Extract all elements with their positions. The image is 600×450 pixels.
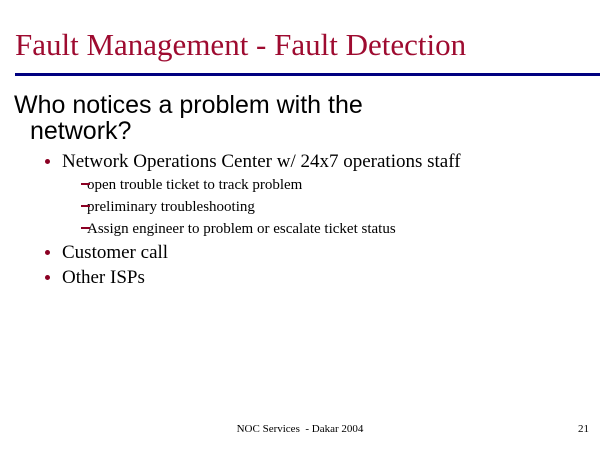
bullet-label: Network Operations Center w/ 24x7 operat… <box>62 151 461 172</box>
slide-canvas: Fault Management - Fault Detection Who n… <box>0 0 600 450</box>
bullet-dot-icon <box>45 275 50 280</box>
sub-bullet-label: Assign engineer to problem or escalate t… <box>87 221 396 237</box>
list-item: Customer call <box>0 241 600 265</box>
sub-bullet-label: open trouble ticket to track problem <box>87 177 302 193</box>
bullet-dash-icon <box>81 205 90 207</box>
page-title: Fault Management - Fault Detection <box>15 26 590 64</box>
slide-footer: NOC Services - Dakar 2004 21 <box>0 422 600 438</box>
list-item: Other ISPs <box>0 266 600 290</box>
slide-body: Who notices a problem with the network? … <box>0 92 600 291</box>
title-divider <box>15 73 600 76</box>
list-item: open trouble ticket to track problem <box>62 175 600 195</box>
bullet-label: Customer call <box>62 242 168 263</box>
bullet-dash-icon <box>81 227 90 229</box>
lead-heading: Who notices a problem with the network? <box>0 92 600 144</box>
bullet-dot-icon <box>45 250 50 255</box>
lead-heading-line-2: network? <box>14 118 560 144</box>
lead-heading-line-1: Who notices a problem with the <box>14 91 363 119</box>
list-item: Network Operations Center w/ 24x7 operat… <box>0 150 600 239</box>
sub-bullet-label: preliminary troubleshooting <box>87 199 255 215</box>
list-item: Assign engineer to problem or escalate t… <box>62 219 600 239</box>
bullet-list-level-1: Network Operations Center w/ 24x7 operat… <box>0 150 600 290</box>
bullet-dash-icon <box>81 183 90 185</box>
footer-text: NOC Services - Dakar 2004 <box>0 422 600 436</box>
bullet-list-level-2: open trouble ticket to track problem pre… <box>62 175 600 239</box>
page-number: 21 <box>578 422 589 436</box>
bullet-label: Other ISPs <box>62 267 145 288</box>
list-item: preliminary troubleshooting <box>62 197 600 217</box>
bullet-dot-icon <box>45 159 50 164</box>
